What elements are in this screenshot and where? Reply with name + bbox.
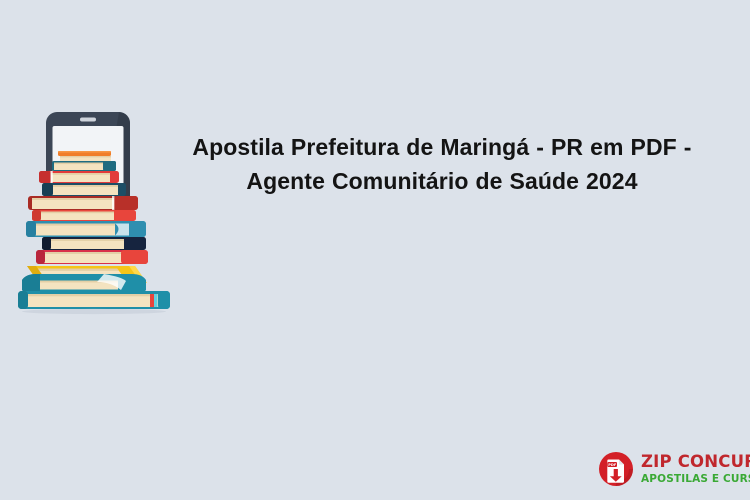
books-and-tablet-illustration [8, 108, 180, 318]
book-teal-base [18, 291, 170, 314]
book-red-upper [39, 171, 119, 183]
book-red-mid [32, 210, 136, 221]
pdf-download-badge-icon: PDF [598, 451, 634, 487]
book-crimson-lower [36, 250, 148, 264]
bookmark-cyan [154, 294, 158, 307]
title-block: Apostila Prefeitura de Maringá - PR em P… [186, 130, 698, 198]
logo-primary-text: ZIP CONCURSOS [641, 454, 750, 471]
bookmark-red [150, 294, 154, 307]
product-banner: Apostila Prefeitura de Maringá - PR em P… [0, 0, 750, 500]
brand-logo[interactable]: PDF ZIP CONCURSOS APOSTILAS E CURSOS [598, 446, 744, 492]
page-title: Apostila Prefeitura de Maringá - PR em P… [186, 130, 698, 198]
svg-text:PDF: PDF [608, 463, 617, 467]
logo-secondary-text: APOSTILAS E CURSOS [641, 474, 750, 485]
book-teal-upper [52, 161, 116, 171]
book-blue-mid [26, 221, 146, 237]
book-darkred-mid [28, 196, 138, 210]
logo-text-group: ZIP CONCURSOS APOSTILAS E CURSOS [641, 454, 750, 484]
book-navy-upper [42, 183, 126, 196]
book-navy-lower [42, 237, 146, 250]
book-orange-top [58, 151, 111, 161]
